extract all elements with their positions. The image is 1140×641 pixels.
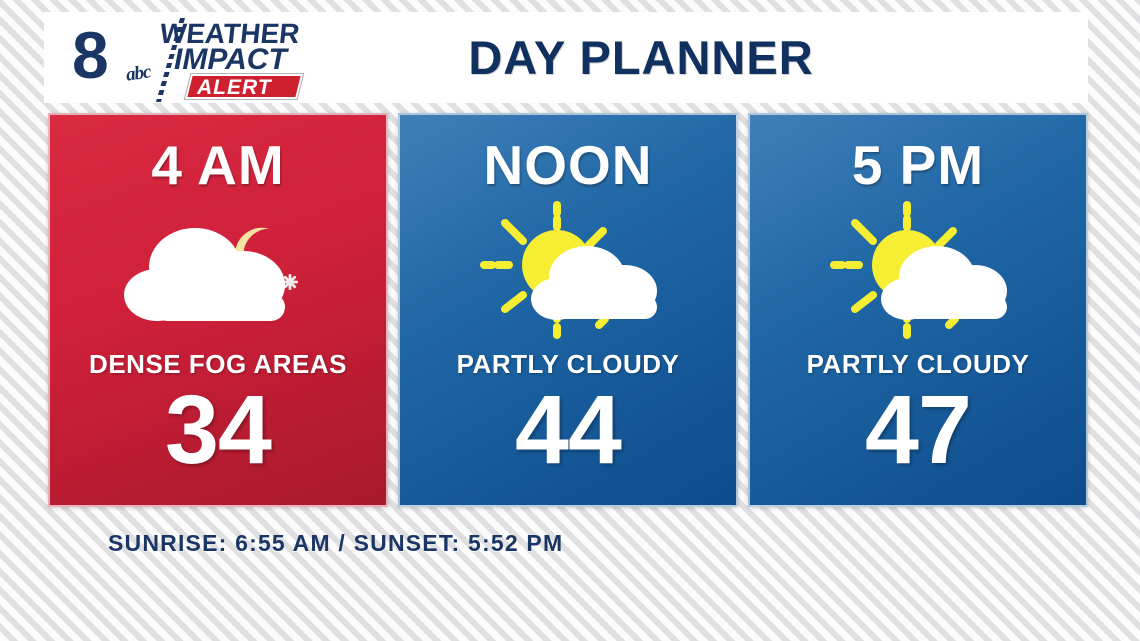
logo-alert-text: ALERT (197, 76, 272, 99)
channel-affiliate-script: abc (125, 61, 152, 86)
forecast-temperature: 34 (165, 380, 271, 480)
forecast-time: NOON (484, 135, 653, 195)
station-logo: 8 abc WEATHER IMPACT ALERT (64, 16, 334, 100)
forecast-panel-group: 4 AM (48, 113, 1088, 507)
sun-cloud-icon (803, 199, 1033, 347)
forecast-time: 4 AM (151, 135, 284, 195)
forecast-temperature: 44 (515, 380, 621, 480)
forecast-panel[interactable]: 4 AM (48, 113, 388, 507)
forecast-panel[interactable]: NOON (398, 113, 738, 507)
moon-cloud-fog-icon (103, 199, 333, 347)
weather-graphic-root: DAY PLANNER 8 abc WEATHER IMPACT ALERT 4… (0, 0, 1140, 641)
forecast-temperature: 47 (865, 380, 971, 480)
logo-impact-text: IMPACT (174, 45, 287, 75)
forecast-panel[interactable]: 5 PM (748, 113, 1088, 507)
forecast-time: 5 PM (852, 135, 984, 195)
sunrise-sunset-label: SUNRISE: 6:55 AM / SUNSET: 5:52 PM (108, 530, 563, 557)
header-bar: DAY PLANNER 8 abc WEATHER IMPACT ALERT (44, 12, 1088, 103)
channel-number-logo: 8 (72, 22, 106, 88)
sun-cloud-icon (453, 199, 683, 347)
